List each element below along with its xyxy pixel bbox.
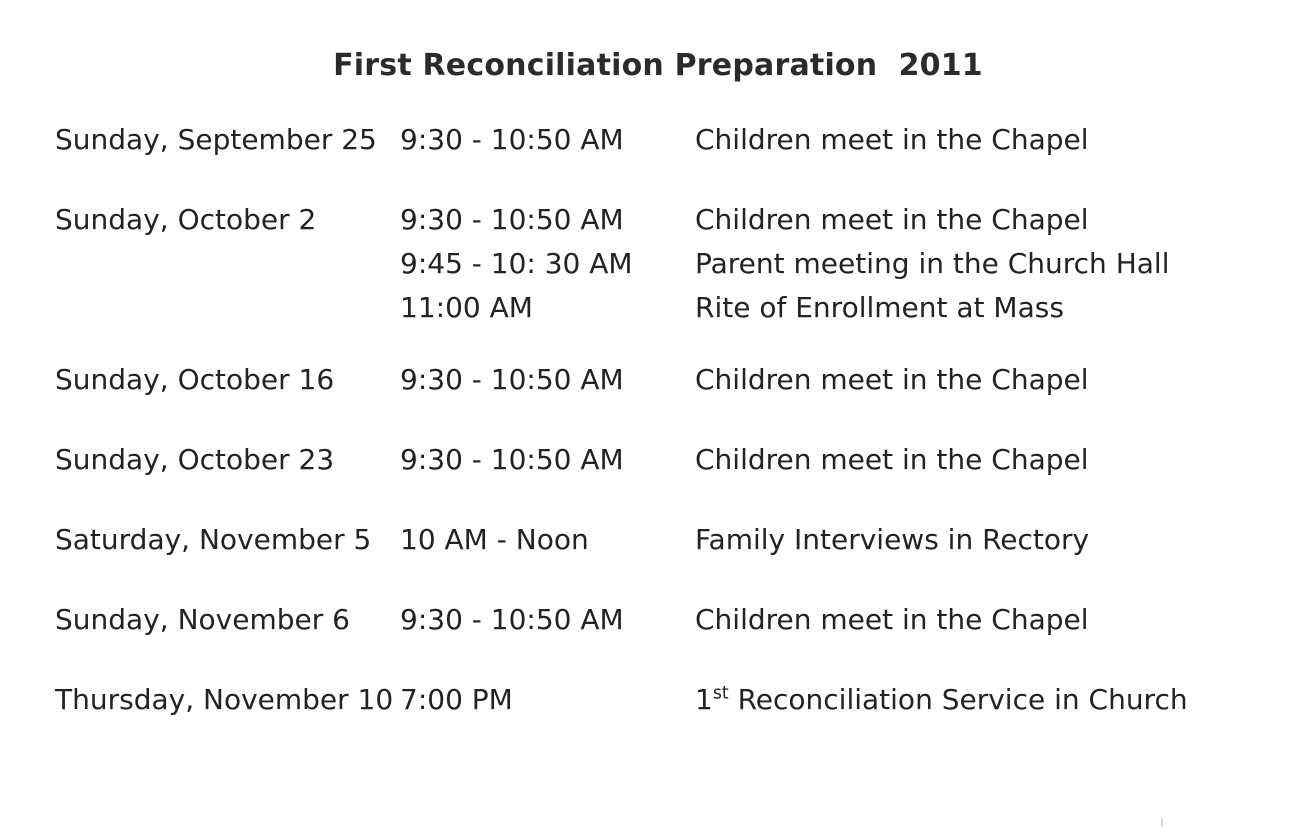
row-description: 1st Reconciliation Service in Church bbox=[695, 678, 1316, 722]
row-time: 9:30 - 10:50 AM 9:45 - 10: 30 AM 11:00 A… bbox=[400, 198, 695, 330]
date-text: Sunday, September 25 bbox=[55, 118, 400, 162]
description-text: Parent meeting in the Church Hall bbox=[695, 242, 1316, 286]
table-row: Sunday, September 25 9:30 - 10:50 AM Chi… bbox=[0, 118, 1316, 162]
date-text: Thursday, November 10 bbox=[55, 678, 400, 722]
row-time: 9:30 - 10:50 AM bbox=[400, 358, 695, 402]
row-description: Children meet in the Chapel bbox=[695, 438, 1316, 482]
date-text: Sunday, October 23 bbox=[55, 438, 400, 482]
date-text: Sunday, November 6 bbox=[55, 598, 400, 642]
table-row: Sunday, October 2 9:30 - 10:50 AM 9:45 -… bbox=[0, 198, 1316, 330]
ordinal-number: 1 bbox=[695, 683, 713, 716]
schedule-table: Sunday, September 25 9:30 - 10:50 AM Chi… bbox=[0, 118, 1316, 758]
description-remainder: Reconciliation Service in Church bbox=[729, 683, 1188, 716]
row-date: Sunday, October 2 bbox=[0, 198, 400, 242]
table-row: Thursday, November 10 7:00 PM 1st Reconc… bbox=[0, 678, 1316, 722]
time-text: 9:30 - 10:50 AM bbox=[400, 438, 695, 482]
row-date: Sunday, November 6 bbox=[0, 598, 400, 642]
description-text: Family Interviews in Rectory bbox=[695, 518, 1316, 562]
row-description: Children meet in the Chapel bbox=[695, 598, 1316, 642]
description-text: Rite of Enrollment at Mass bbox=[695, 286, 1316, 330]
time-text: 9:30 - 10:50 AM bbox=[400, 358, 695, 402]
table-row: Saturday, November 5 10 AM - Noon Family… bbox=[0, 518, 1316, 562]
row-description: Children meet in the Chapel bbox=[695, 358, 1316, 402]
row-date: Saturday, November 5 bbox=[0, 518, 400, 562]
date-text: Sunday, October 2 bbox=[55, 198, 400, 242]
table-row: Sunday, October 23 9:30 - 10:50 AM Child… bbox=[0, 438, 1316, 482]
time-text: 7:00 PM bbox=[400, 678, 695, 722]
time-text: 10 AM - Noon bbox=[400, 518, 695, 562]
ordinal-suffix: st bbox=[713, 684, 729, 704]
table-row: Sunday, November 6 9:30 - 10:50 AM Child… bbox=[0, 598, 1316, 642]
time-text: 9:30 - 10:50 AM bbox=[400, 198, 695, 242]
time-text: 9:45 - 10: 30 AM bbox=[400, 242, 695, 286]
time-text: 9:30 - 10:50 AM bbox=[400, 598, 695, 642]
description-text: Children meet in the Chapel bbox=[695, 198, 1316, 242]
page-title: First Reconciliation Preparation 2011 bbox=[0, 48, 1316, 83]
row-description: Children meet in the Chapel Parent meeti… bbox=[695, 198, 1316, 330]
date-text: Saturday, November 5 bbox=[55, 518, 400, 562]
description-text: Children meet in the Chapel bbox=[695, 598, 1316, 642]
row-date: Thursday, November 10 bbox=[0, 678, 400, 722]
row-date: Sunday, October 16 bbox=[0, 358, 400, 402]
scan-artifact bbox=[1161, 818, 1163, 827]
description-text: 1st Reconciliation Service in Church bbox=[695, 678, 1316, 722]
row-time: 7:00 PM bbox=[400, 678, 695, 722]
row-time: 9:30 - 10:50 AM bbox=[400, 598, 695, 642]
table-row: Sunday, October 16 9:30 - 10:50 AM Child… bbox=[0, 358, 1316, 402]
description-text: Children meet in the Chapel bbox=[695, 358, 1316, 402]
row-description: Family Interviews in Rectory bbox=[695, 518, 1316, 562]
description-text: Children meet in the Chapel bbox=[695, 438, 1316, 482]
row-time: 9:30 - 10:50 AM bbox=[400, 118, 695, 162]
time-text: 9:30 - 10:50 AM bbox=[400, 118, 695, 162]
time-text: 11:00 AM bbox=[400, 286, 695, 330]
row-time: 9:30 - 10:50 AM bbox=[400, 438, 695, 482]
date-text: Sunday, October 16 bbox=[55, 358, 400, 402]
document-page: First Reconciliation Preparation 2011 Su… bbox=[0, 0, 1316, 832]
row-description: Children meet in the Chapel bbox=[695, 118, 1316, 162]
row-date: Sunday, October 23 bbox=[0, 438, 400, 482]
row-time: 10 AM - Noon bbox=[400, 518, 695, 562]
row-date: Sunday, September 25 bbox=[0, 118, 400, 162]
description-text: Children meet in the Chapel bbox=[695, 118, 1316, 162]
